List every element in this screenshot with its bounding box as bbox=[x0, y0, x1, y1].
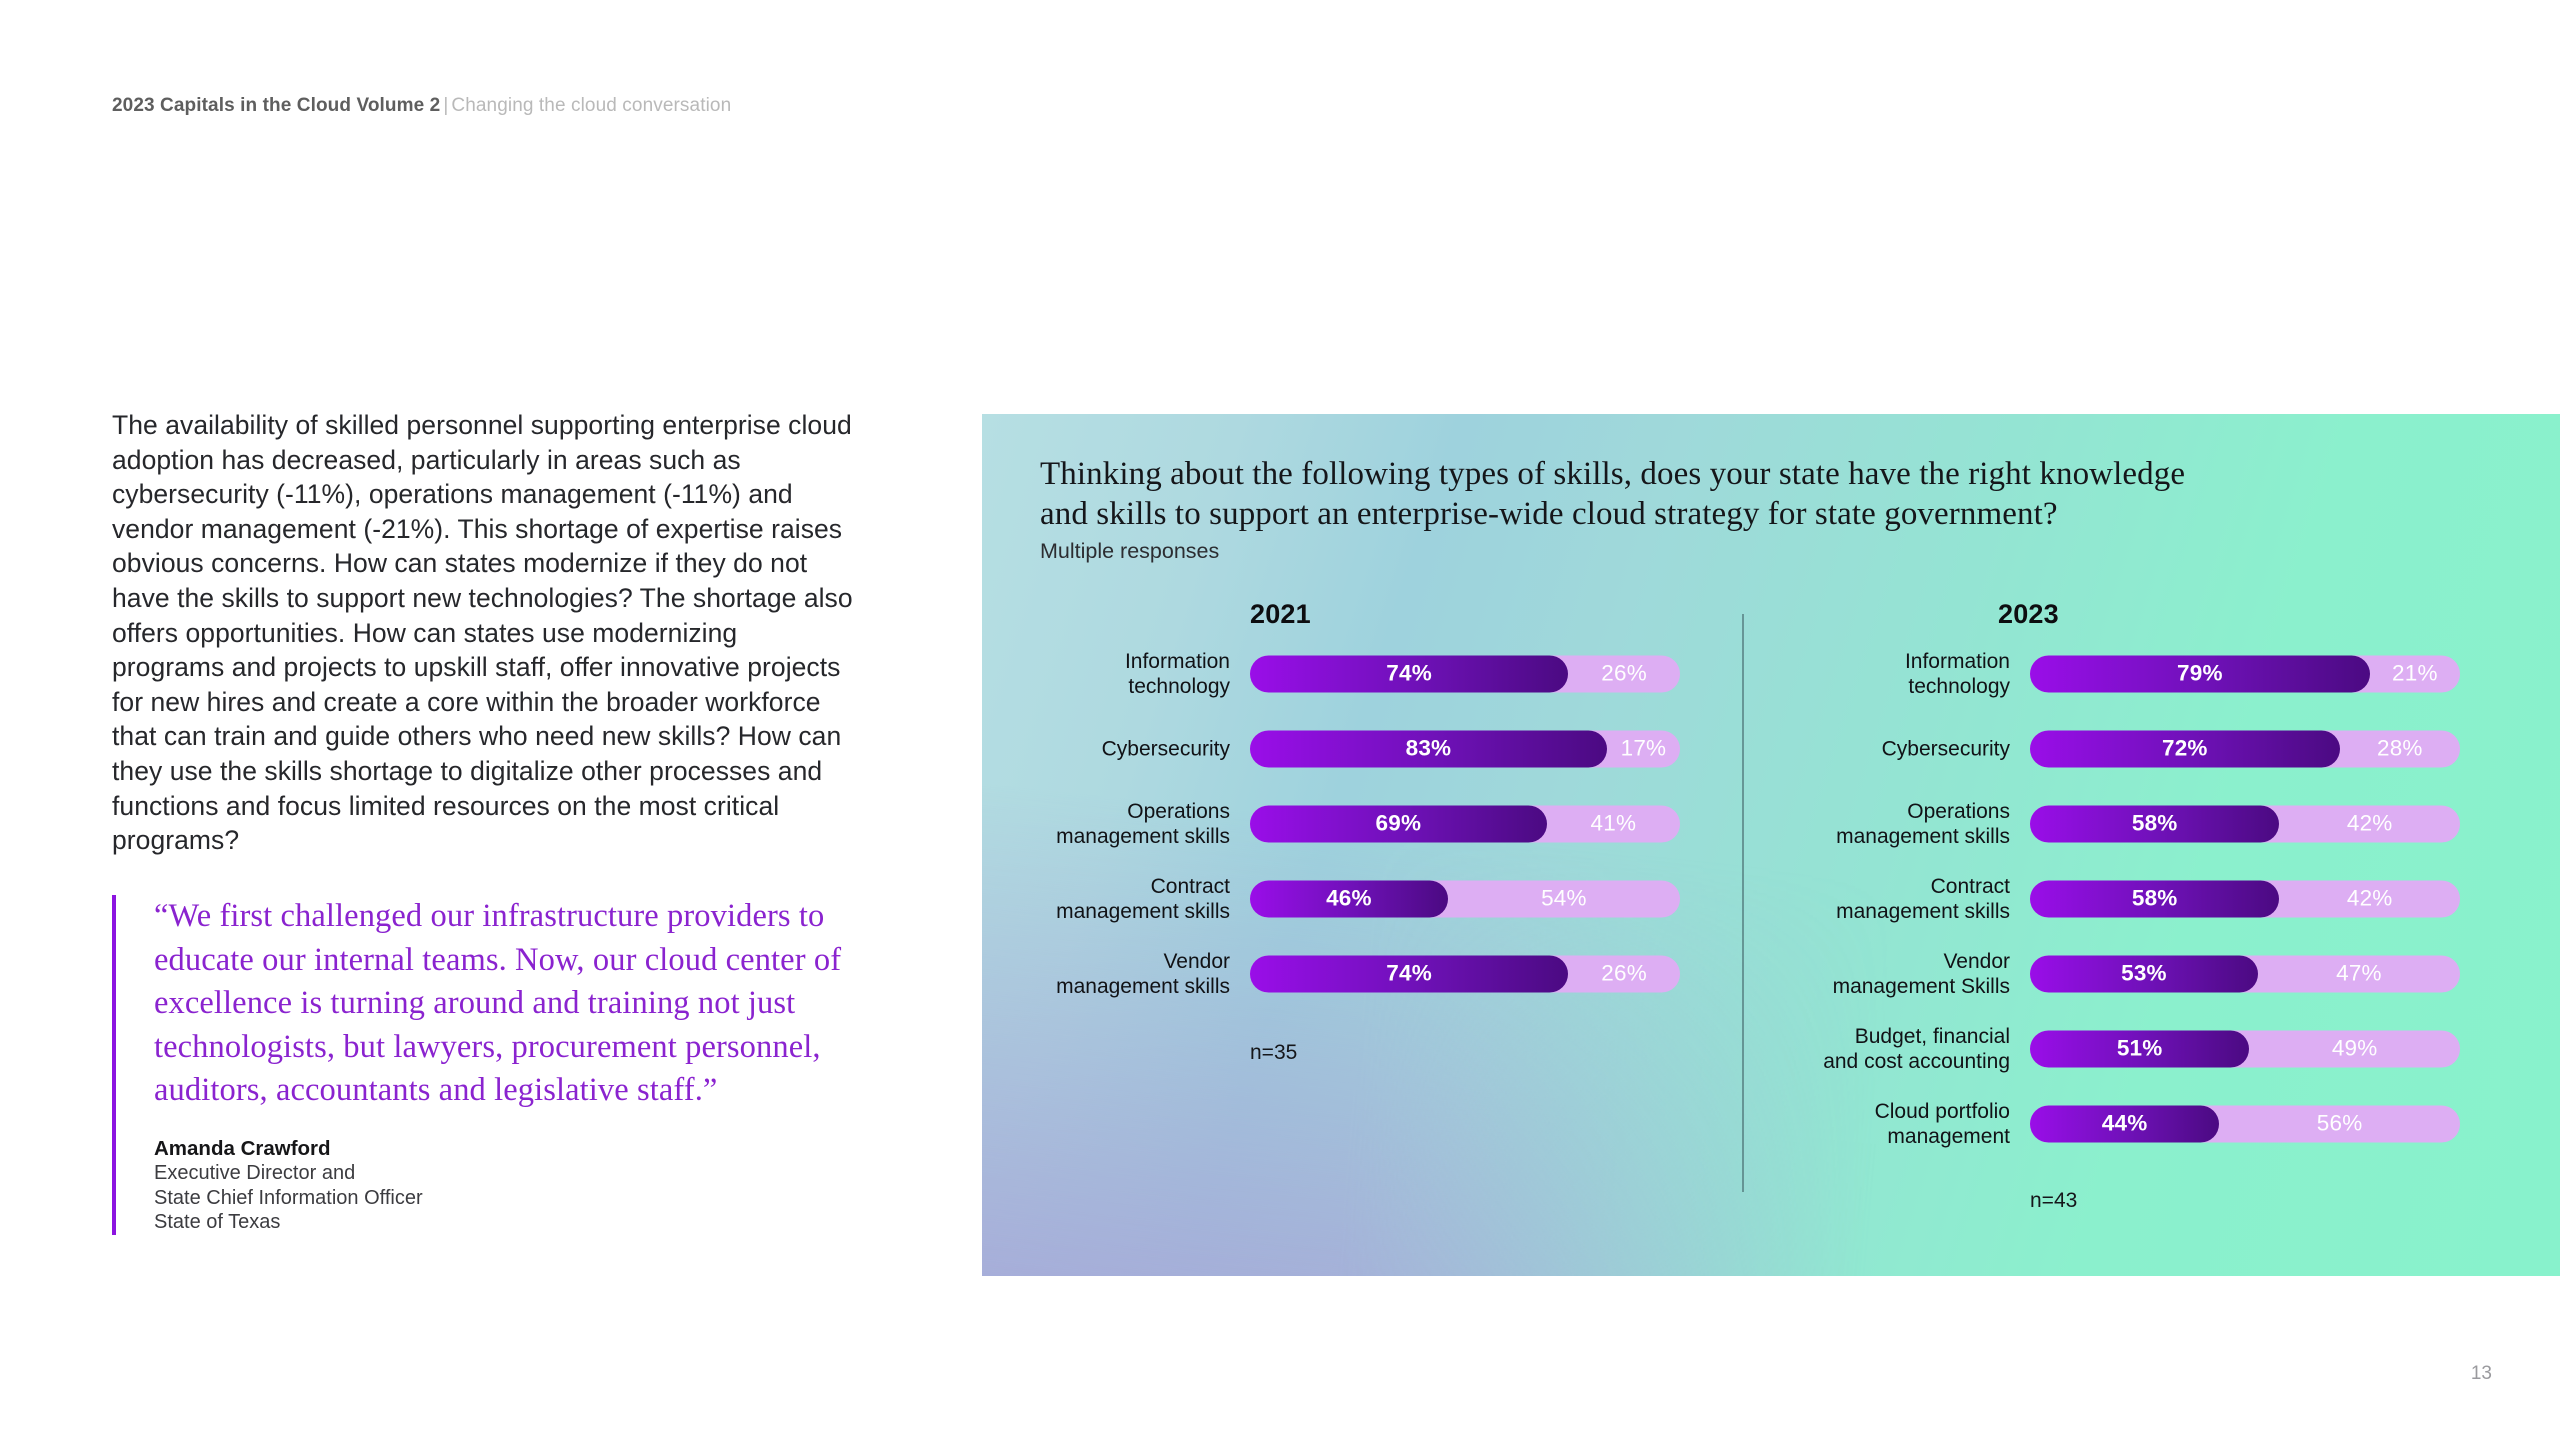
bar-value-no: 41% bbox=[1591, 811, 1637, 837]
bar-track-no: 46%54% bbox=[1250, 880, 1680, 917]
bar-track-no: 51%49% bbox=[2030, 1030, 2460, 1067]
year-label-2021: 2021 bbox=[1250, 599, 1311, 630]
bar-value-yes: 53% bbox=[2121, 961, 2167, 987]
year-label-2023: 2023 bbox=[1998, 599, 2059, 630]
bar-track-no: 58%42% bbox=[2030, 880, 2460, 917]
bar-track-no: 79%21% bbox=[2030, 655, 2460, 692]
bar-value-yes: 74% bbox=[1386, 661, 1432, 687]
bar-track-no: 53%47% bbox=[2030, 955, 2460, 992]
bar-row-label: Cybersecurity bbox=[982, 736, 1230, 761]
bar-value-no: 49% bbox=[2332, 1036, 2378, 1062]
chart-column-2023: 2023 Informationtechnology79%21%Cybersec… bbox=[1760, 414, 2560, 1276]
bar-value-yes: 44% bbox=[2102, 1111, 2148, 1137]
bar-track-no: 69%41% bbox=[1250, 805, 1680, 842]
quote-author-role-line1: Executive Director and bbox=[154, 1161, 854, 1186]
bar-row: Operationsmanagement skills58%42% bbox=[1760, 786, 2560, 861]
bar-row-label: Informationtechnology bbox=[1760, 649, 2010, 699]
bar-row: Informationtechnology79%21% bbox=[1760, 636, 2560, 711]
column-divider bbox=[1742, 614, 1744, 1192]
bar-rows-2023: Informationtechnology79%21%Cybersecurity… bbox=[1760, 636, 2560, 1161]
bar-row-label: Informationtechnology bbox=[982, 649, 1230, 699]
running-header: 2023 Capitals in the Cloud Volume 2|Chan… bbox=[112, 95, 731, 117]
bar-row-label: Vendormanagement Skills bbox=[1760, 949, 2010, 999]
bar-value-yes: 74% bbox=[1386, 961, 1432, 987]
bar-row: Operationsmanagement skills69%41% bbox=[982, 786, 1742, 861]
bar-row: Contractmanagement skills46%54% bbox=[982, 861, 1742, 936]
bar-value-no: 28% bbox=[2377, 736, 2423, 762]
page-number: 13 bbox=[2471, 1363, 2492, 1385]
document-page: 2023 Capitals in the Cloud Volume 2|Chan… bbox=[0, 0, 2560, 1440]
bar-row: Vendormanagement skills74%26% bbox=[982, 936, 1742, 1011]
bar-value-yes: 79% bbox=[2177, 661, 2223, 687]
pull-quote-block: “We first challenged our infrastructure … bbox=[112, 895, 854, 1235]
running-header-subtitle: Changing the cloud conversation bbox=[451, 95, 731, 116]
bar-row-label: Contractmanagement skills bbox=[1760, 874, 2010, 924]
bar-row-label: Operationsmanagement skills bbox=[1760, 799, 2010, 849]
bar-row: Cybersecurity72%28% bbox=[1760, 711, 2560, 786]
bar-row: Vendormanagement Skills53%47% bbox=[1760, 936, 2560, 1011]
bar-row: Contractmanagement skills58%42% bbox=[1760, 861, 2560, 936]
bar-value-yes: 51% bbox=[2117, 1036, 2163, 1062]
bar-value-no: 54% bbox=[1541, 886, 1587, 912]
bar-row: Cybersecurity83%17% bbox=[982, 711, 1742, 786]
running-header-separator: | bbox=[440, 95, 451, 116]
bar-row: Cloud portfoliomanagement44%56% bbox=[1760, 1086, 2560, 1161]
left-content-column: The availability of skilled personnel su… bbox=[112, 408, 854, 858]
quote-author-name: Amanda Crawford bbox=[154, 1137, 854, 1162]
bar-row-label: Budget, financialand cost accounting bbox=[1760, 1024, 2010, 1074]
bar-value-no: 56% bbox=[2317, 1111, 2363, 1137]
bar-track-no: 72%28% bbox=[2030, 730, 2460, 767]
bar-value-no: 21% bbox=[2392, 661, 2438, 687]
bar-rows-2021: Informationtechnology74%26%Cybersecurity… bbox=[982, 636, 1742, 1011]
bar-row-label: Contractmanagement skills bbox=[982, 874, 1230, 924]
sample-size-2023: n=43 bbox=[2030, 1189, 2077, 1213]
bar-row-label: Vendormanagement skills bbox=[982, 949, 1230, 999]
bar-row-label: Cloud portfoliomanagement bbox=[1760, 1099, 2010, 1149]
bar-track-no: 44%56% bbox=[2030, 1105, 2460, 1142]
bar-value-yes: 46% bbox=[1326, 886, 1372, 912]
bar-value-yes: 72% bbox=[2162, 736, 2208, 762]
sample-size-2021: n=35 bbox=[1250, 1041, 1297, 1065]
quote-author-org: State of Texas bbox=[154, 1210, 854, 1235]
bar-value-no: 26% bbox=[1601, 661, 1647, 687]
bar-track-no: 58%42% bbox=[2030, 805, 2460, 842]
quote-attribution: Amanda Crawford Executive Director and S… bbox=[154, 1137, 854, 1235]
bar-value-no: 47% bbox=[2336, 961, 2382, 987]
body-paragraph: The availability of skilled personnel su… bbox=[112, 408, 854, 858]
bar-track-no: 83%17% bbox=[1250, 730, 1680, 767]
bar-track-no: 74%26% bbox=[1250, 655, 1680, 692]
running-header-title: 2023 Capitals in the Cloud Volume 2 bbox=[112, 95, 440, 116]
bar-value-yes: 58% bbox=[2132, 886, 2178, 912]
bar-row-label: Cybersecurity bbox=[1760, 736, 2010, 761]
bar-value-yes: 83% bbox=[1406, 736, 1452, 762]
bar-row: Budget, financialand cost accounting51%4… bbox=[1760, 1011, 2560, 1086]
bar-value-no: 17% bbox=[1621, 736, 1667, 762]
bar-value-no: 42% bbox=[2347, 886, 2393, 912]
quote-author-role-line2: State Chief Information Officer bbox=[154, 1186, 854, 1211]
chart-column-2021: 2021 Informationtechnology74%26%Cybersec… bbox=[982, 414, 1742, 1276]
chart-panel: Thinking about the following types of sk… bbox=[982, 414, 2560, 1276]
bar-row: Informationtechnology74%26% bbox=[982, 636, 1742, 711]
bar-value-yes: 69% bbox=[1376, 811, 1422, 837]
bar-value-yes: 58% bbox=[2132, 811, 2178, 837]
bar-row-label: Operationsmanagement skills bbox=[982, 799, 1230, 849]
bar-value-no: 42% bbox=[2347, 811, 2393, 837]
bar-value-no: 26% bbox=[1601, 961, 1647, 987]
bar-track-no: 74%26% bbox=[1250, 955, 1680, 992]
pull-quote-text: “We first challenged our infrastructure … bbox=[154, 895, 854, 1113]
